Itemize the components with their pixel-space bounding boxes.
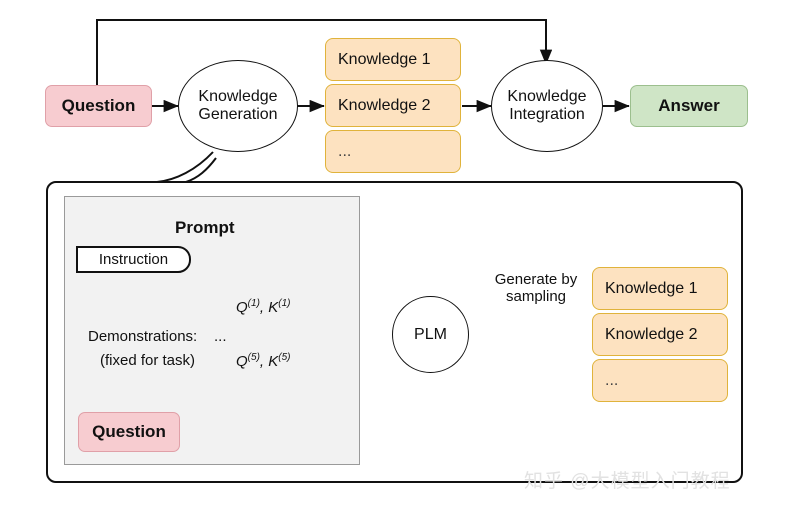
answer-node-label: Answer [658,96,719,115]
output-knowledge-item-more-label: ... [605,372,618,390]
demonstrations-sublabel: (fixed for task) [100,352,195,369]
demonstration-5-pair: Q(5), K(5) [236,352,291,370]
question-node-prompt[interactable]: Question [78,412,180,452]
knowledge-generation-line1: Knowledge [198,88,277,106]
plm-label: PLM [414,326,447,344]
demo-5-k-sup: (5) [278,352,290,363]
question-node-top-label: Question [62,96,136,115]
knowledge-integration-line1: Knowledge [507,88,586,106]
output-knowledge-item-1[interactable]: Knowledge 1 [592,267,728,310]
watermark-text: 知乎 @大模型入门教程 [524,471,731,492]
demonstrations-ellipsis: ... [214,328,227,345]
demonstrations-box: Q(1), K(1) Demonstrations: ... (fixed fo… [78,288,348,389]
knowledge-item-more-top[interactable]: ... [325,130,461,173]
diagram-canvas: Question Knowledge Generation Knowledge … [0,0,793,511]
demo-1-k: K [268,299,278,316]
knowledge-item-more-top-label: ... [338,143,351,161]
demo-5-comma: , [260,353,264,370]
instruction-label: Instruction [99,251,168,268]
demo-5-q-sup: (5) [248,352,260,363]
demonstrations-label: Demonstrations: [88,328,197,345]
demonstrations-label-text: Demonstrations: [88,328,197,345]
knowledge-generation-line2: Generation [198,106,277,124]
instruction-box[interactable]: Instruction [76,246,191,273]
knowledge-item-1-top-label: Knowledge 1 [338,51,431,69]
knowledge-item-2-top[interactable]: Knowledge 2 [325,84,461,127]
feedback-arrow [97,20,546,85]
generate-line2: sampling [506,288,566,305]
callout-tail-2 [157,152,213,182]
generate-by-sampling-label: Generate by sampling [478,271,594,306]
output-knowledge-item-2-label: Knowledge 2 [605,326,698,344]
output-knowledge-item-more[interactable]: ... [592,359,728,402]
output-knowledge-item-1-label: Knowledge 1 [605,280,698,298]
knowledge-item-2-top-label: Knowledge 2 [338,97,431,115]
callout-tail [186,158,216,182]
demo-1-k-sup: (1) [278,298,290,309]
demo-1-comma: , [260,299,264,316]
question-node-prompt-label: Question [92,422,166,441]
output-knowledge-item-2[interactable]: Knowledge 2 [592,313,728,356]
prompt-title: Prompt [175,218,235,238]
knowledge-item-1-top[interactable]: Knowledge 1 [325,38,461,81]
demo-1-q: Q [236,299,248,316]
question-node-top[interactable]: Question [45,85,152,127]
demonstrations-ellipsis-text: ... [214,328,227,345]
knowledge-integration-node[interactable]: Knowledge Integration [491,60,603,152]
demo-5-k: K [268,353,278,370]
generate-line1: Generate by [495,271,578,288]
plm-node[interactable]: PLM [392,296,469,373]
demonstrations-sublabel-text: (fixed for task) [100,352,195,369]
watermark: 知乎 @大模型入门教程 [524,466,731,493]
answer-node[interactable]: Answer [630,85,748,127]
demo-1-q-sup: (1) [248,298,260,309]
demonstration-1-pair: Q(1), K(1) [236,298,291,316]
knowledge-generation-node[interactable]: Knowledge Generation [178,60,298,152]
knowledge-integration-line2: Integration [509,106,585,124]
demo-5-q: Q [236,353,248,370]
prompt-title-label: Prompt [175,218,235,237]
